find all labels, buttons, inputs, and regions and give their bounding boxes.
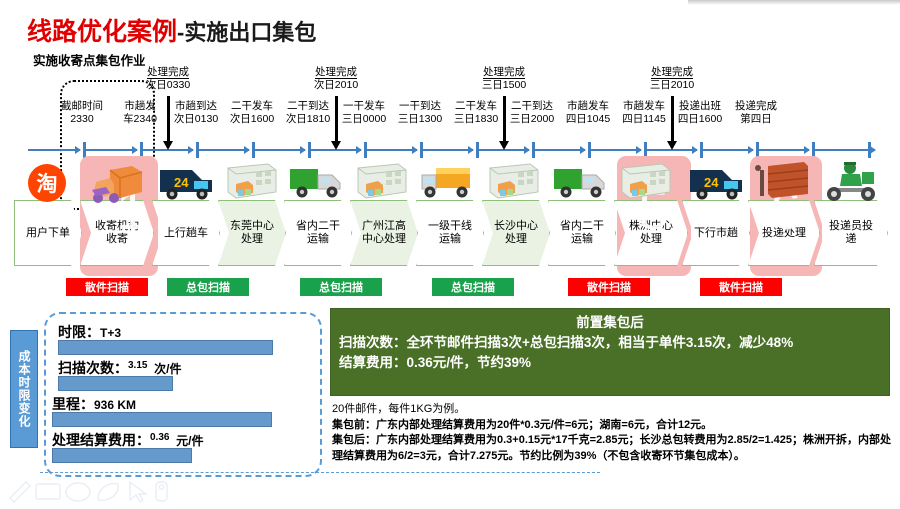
note-line-1: 20件邮件，每件1KG为例。 <box>332 402 898 418</box>
warehouse-icon <box>484 162 542 209</box>
timeline-milestone: 处理完成三日1500 <box>464 66 544 91</box>
shelf-sorting-icon <box>752 160 812 209</box>
page-title-main: 线路优化案例 <box>27 18 177 46</box>
top-shadow-strip <box>688 0 900 5</box>
metric-bar-1 <box>58 340 273 355</box>
flow-step-label: 省内二干运输 <box>560 220 604 246</box>
metric-name: 里程 <box>52 396 80 412</box>
svg-text:24: 24 <box>704 175 719 190</box>
metric-label-3: 里程：936 KM <box>52 394 136 414</box>
flow-step-5[interactable]: 省内二干运输 <box>284 200 352 266</box>
scan-badge: 总包扫描 <box>167 278 249 296</box>
flow-step-3[interactable]: 上行趟车 <box>152 200 220 266</box>
metric-separator: ： <box>80 396 94 412</box>
bottom-dashed-divider <box>40 472 600 473</box>
metric-separator: ： <box>136 432 150 448</box>
sidebar-tab-cost-time[interactable]: 成本时限变化 <box>10 330 38 448</box>
scan-badge-label: 总包扫描 <box>319 279 363 295</box>
banner-heading: 前置集包后 <box>339 313 881 333</box>
van-24-icon: 24 <box>158 162 216 207</box>
flow-step-label: 下行市趟 <box>694 227 738 240</box>
scan-badge: 总包扫描 <box>300 278 382 296</box>
warehouse-icon <box>616 162 674 209</box>
orange-truck-icon <box>420 163 482 208</box>
flow-step-8[interactable]: 长沙中心处理 <box>482 200 550 266</box>
green-truck-icon <box>288 163 348 208</box>
note-line-3: 集包后：广东内部处理结算费用为0.3+0.15元*17千克=2.85元；长沙总包… <box>332 433 898 464</box>
flow-step-label: 投递员投递 <box>829 220 873 246</box>
green-truck-icon <box>552 163 612 208</box>
scan-badge-label: 散件扫描 <box>587 279 631 295</box>
flow-step-7[interactable]: 一级干线运输 <box>416 200 484 266</box>
scan-badge: 散件扫描 <box>700 278 782 296</box>
metric-label-4: 处理结算费用：0.36 元/件 <box>52 430 203 450</box>
timeline: 截邮时间2330市趟发车2340市趟到达次日0130二干发车次日1600二干到达… <box>0 62 900 152</box>
svg-text:淘: 淘 <box>37 172 58 196</box>
metric-name: 扫描次数 <box>58 360 114 376</box>
flow-step-label: 广州江高中心处理 <box>362 220 406 246</box>
milestone-down-arrow <box>167 96 170 142</box>
scan-badge-label: 总包扫描 <box>451 279 495 295</box>
metric-label-2: 扫描次数：3.15 次/件 <box>58 358 181 378</box>
scan-badge: 散件扫描 <box>66 278 148 296</box>
svg-text:24: 24 <box>174 175 189 190</box>
explanatory-note: 20件邮件，每件1KG为例。 集包前：广东内部处理结算费用为20件*0.3元/件… <box>332 402 898 464</box>
flow-step-6[interactable]: 广州江高中心处理 <box>350 200 418 266</box>
flow-step-13[interactable]: 投递员投递 <box>814 200 888 266</box>
metric-bar-4 <box>52 448 192 463</box>
metric-value: T+3 <box>100 326 121 340</box>
page-title-sub: -实施出口集包 <box>177 20 316 45</box>
milestone-down-arrow <box>503 96 506 142</box>
taobao-logo-icon: 淘 <box>26 162 68 209</box>
metric-unit: 次/件 <box>154 362 181 376</box>
metric-bar-3 <box>52 412 272 427</box>
metric-bar-2 <box>58 376 173 391</box>
flow-step-label: 省内二干运输 <box>296 220 340 246</box>
courier-scooter-icon <box>822 160 882 209</box>
metric-name: 处理结算费用 <box>52 432 136 448</box>
metric-value: 3.15 <box>128 360 147 371</box>
tool-watermark-icons <box>6 474 196 509</box>
process-flow: 用户下单 收寄机构收寄 上行趟车 东莞中心处理 省内二干运输 广州江高中心处理 <box>0 150 900 272</box>
timeline-event-label: 投递完成第四日 <box>722 100 790 125</box>
milestone-down-arrow <box>671 96 674 142</box>
metric-unit: 元/件 <box>176 434 203 448</box>
flow-step-4[interactable]: 东莞中心处理 <box>218 200 286 266</box>
result-banner: 前置集包后 扫描次数：全环节邮件扫描3次+总包扫描3次，相当于单件3.15次，减… <box>330 308 890 396</box>
flow-step-label: 用户下单 <box>26 227 70 240</box>
flow-step-11[interactable]: 下行市趟 <box>682 200 750 266</box>
flow-step-label: 东莞中心处理 <box>230 220 274 246</box>
banner-line-2: 结算费用：0.36元/件，节约39% <box>339 353 881 373</box>
parcel-pickup-icon <box>88 160 148 211</box>
flow-step-9[interactable]: 省内二干运输 <box>548 200 616 266</box>
warehouse-icon <box>352 162 410 209</box>
scan-badge-label: 总包扫描 <box>186 279 230 295</box>
flow-step-label: 一级干线运输 <box>428 220 472 246</box>
metric-value: 936 KM <box>94 398 136 412</box>
metric-name: 时限 <box>58 324 86 340</box>
timeline-milestone: 处理完成三日2010 <box>632 66 712 91</box>
warehouse-icon <box>222 162 280 209</box>
metric-value: 0.36 <box>150 432 169 443</box>
metric-label-1: 时限：T+3 <box>58 322 121 342</box>
milestone-down-arrow <box>335 96 338 142</box>
flow-step-label: 上行趟车 <box>164 227 208 240</box>
flow-step-1[interactable]: 用户下单 <box>14 200 82 266</box>
scan-badge-label: 散件扫描 <box>85 279 129 295</box>
page-title: 线路优化案例-实施出口集包 <box>27 12 316 48</box>
scan-badge-label: 散件扫描 <box>719 279 763 295</box>
banner-line-1: 扫描次数：全环节邮件扫描3次+总包扫描3次，相当于单件3.15次，减少48% <box>339 333 881 353</box>
scan-badge: 总包扫描 <box>432 278 514 296</box>
timeline-milestone: 处理完成次日2010 <box>296 66 376 91</box>
timeline-milestone: 处理完成次日0330 <box>128 66 208 91</box>
van-24-icon: 24 <box>688 162 746 207</box>
metric-separator: ： <box>114 360 128 376</box>
metric-separator: ： <box>86 324 100 340</box>
note-line-2: 集包前：广东内部处理结算费用为20件*0.3元/件=6元；湖南=6元，合计12元… <box>332 418 898 434</box>
flow-step-label: 长沙中心处理 <box>494 220 538 246</box>
scan-badge: 散件扫描 <box>568 278 650 296</box>
